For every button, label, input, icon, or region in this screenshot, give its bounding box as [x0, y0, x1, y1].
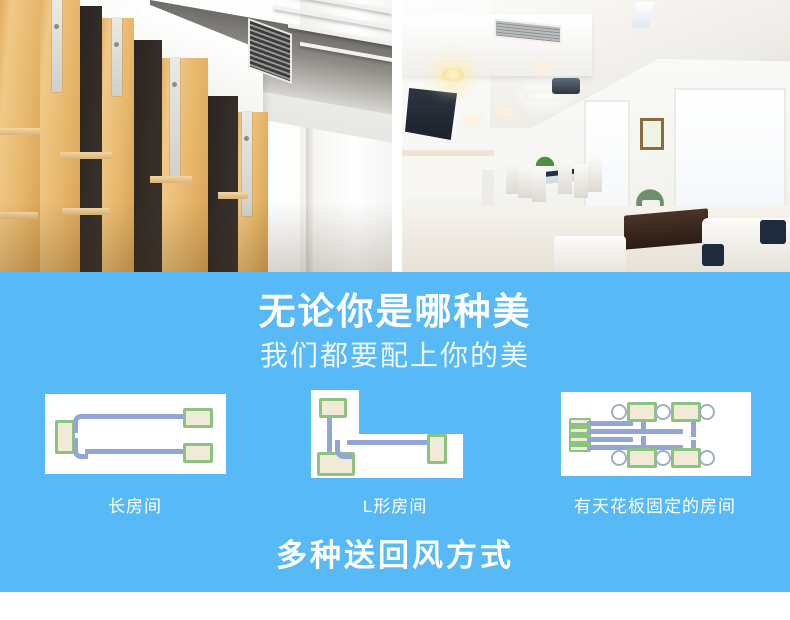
- duct-segment: [85, 414, 185, 419]
- outlet-grille: [319, 398, 347, 418]
- outlet-grille: [671, 448, 701, 468]
- ceiling-light: [699, 404, 715, 420]
- diagram-card-ceiling-fixed-room[interactable]: 有天花板固定的房间: [553, 390, 758, 517]
- outlet-grille: [183, 443, 213, 463]
- duct-segment: [587, 437, 633, 442]
- photo-modern-living-dining-room: [402, 0, 790, 272]
- dining-chair: [574, 164, 588, 198]
- recessed-spotlight: [502, 110, 510, 114]
- blue-banner: 无论你是哪种美 我们都要配上你的美: [0, 272, 790, 592]
- cabinet-strap: [112, 18, 122, 96]
- ceiling-light: [699, 450, 715, 466]
- diagram-long-room: [33, 390, 238, 478]
- outlet-grille: [671, 402, 701, 422]
- manifold-port: [571, 447, 589, 450]
- recessed-spotlight: [468, 118, 476, 122]
- manifold-port: [571, 420, 589, 423]
- diagram-card-list: 长房间 L形房间: [0, 390, 790, 517]
- diagram-card-label: L形房间: [363, 492, 427, 517]
- ottoman: [554, 236, 626, 272]
- page-root: 无论你是哪种美 我们都要配上你的美: [0, 0, 790, 620]
- manifold-port: [571, 438, 589, 441]
- diagram-card-l-shaped-room[interactable]: L形房间: [293, 390, 498, 517]
- banner-headline: 无论你是哪种美: [0, 293, 790, 330]
- duct-segment: [85, 449, 185, 454]
- diagram-l-shaped-room: [293, 390, 498, 478]
- ceiling-light: [611, 404, 627, 420]
- diagram-ceiling-fixed-room: [553, 390, 758, 478]
- cabinet-strap: [170, 58, 180, 180]
- kitchen-counter: [402, 150, 494, 198]
- sofa-cushion: [702, 244, 724, 266]
- outlet-grille: [627, 448, 657, 468]
- cabinet-strap: [52, 0, 62, 92]
- sofa-cushion: [760, 220, 786, 244]
- diagram-card-label: 长房间: [108, 492, 162, 517]
- photo-wooden-cabinetry-with-ceiling-vent: [0, 0, 392, 272]
- outlet-grille: [627, 402, 657, 422]
- pendant-light: [442, 68, 464, 82]
- kitchen-range-hood: [405, 88, 457, 140]
- dining-chair: [588, 158, 602, 192]
- duct-segment: [587, 429, 683, 434]
- cabinet-shelf: [218, 192, 248, 199]
- banner-subheadline: 我们都要配上你的美: [0, 342, 790, 370]
- left-photo-floor-shadow: [0, 202, 392, 272]
- ceiling-light: [611, 450, 627, 466]
- ceiling-projector: [552, 78, 580, 94]
- ceiling-light: [655, 450, 671, 466]
- banner-bottom-line: 多种送回风方式: [0, 540, 790, 571]
- ceiling-light: [655, 404, 671, 420]
- diagram-card-label: 有天花板固定的房间: [574, 492, 736, 517]
- outlet-grille: [183, 408, 213, 428]
- dining-chair: [518, 164, 532, 198]
- dining-chair: [558, 160, 572, 194]
- dining-chair: [532, 168, 546, 202]
- photo-band: [0, 0, 790, 272]
- air-handler-unit: [55, 420, 75, 454]
- duct-segment: [587, 421, 633, 426]
- outlet-grille-vertical: [427, 434, 447, 464]
- duct-segment: [347, 440, 429, 445]
- table-plant: [534, 146, 556, 166]
- diagram-card-long-room[interactable]: 长房间: [33, 390, 238, 517]
- cabinet-strap: [242, 112, 252, 216]
- cabinet-shelf: [60, 152, 112, 159]
- cabinet-shelf: [150, 176, 192, 183]
- framed-picture: [640, 118, 664, 150]
- cabinet-shelf: [0, 128, 40, 135]
- recessed-spotlight: [538, 66, 546, 70]
- duct-segment: [327, 412, 332, 456]
- manifold-port: [571, 429, 589, 432]
